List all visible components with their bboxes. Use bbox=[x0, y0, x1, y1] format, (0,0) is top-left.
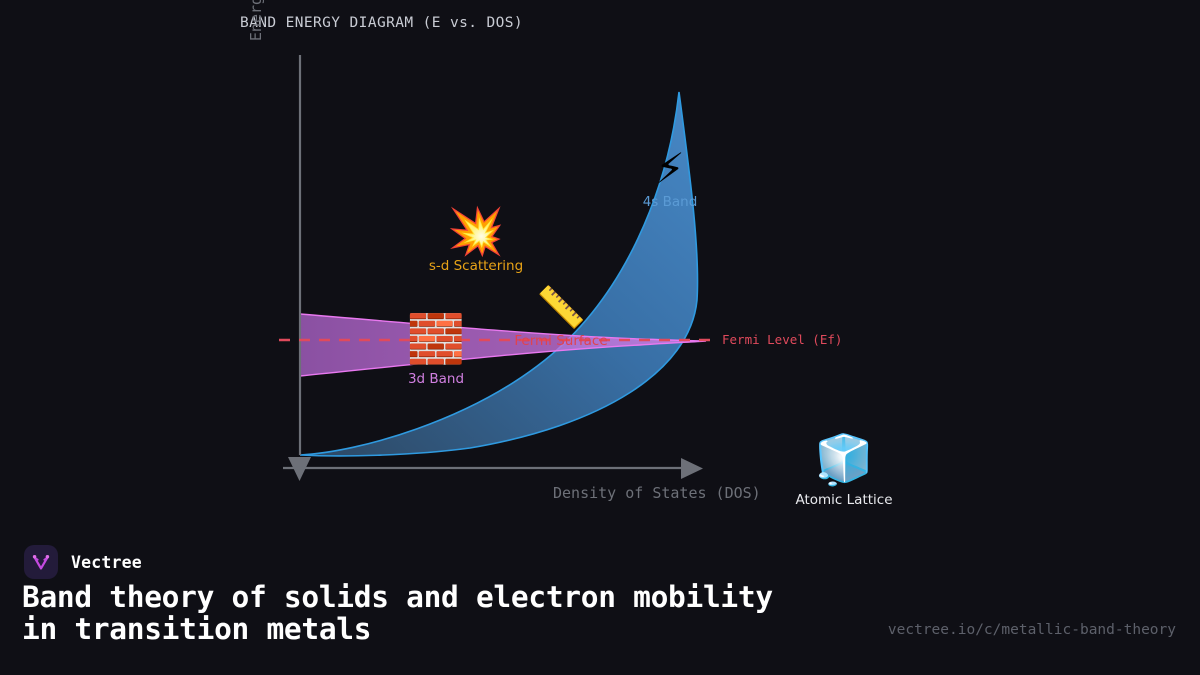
brick-wall-icon: 🧱 bbox=[372, 316, 500, 363]
node-3d-band-label: 3d Band bbox=[372, 371, 500, 387]
node-s-d-scattering-label: s-d Scattering bbox=[406, 258, 546, 274]
node-atomic-lattice-label: Atomic Lattice bbox=[779, 492, 909, 508]
node-4s-band-label: 4s Band bbox=[600, 194, 740, 210]
footer-bar: Vectree Band theory of solids and electr… bbox=[0, 540, 1200, 675]
node-atomic-lattice[interactable]: 🧊 Atomic Lattice bbox=[779, 436, 909, 508]
ruler-icon: 📏 bbox=[497, 288, 625, 328]
node-fermi-surface[interactable]: 📏 Fermi Surface bbox=[497, 288, 625, 349]
brand-block: Vectree bbox=[24, 545, 142, 579]
diagram-title: BAND ENERGY DIAGRAM (E vs. DOS) bbox=[240, 15, 523, 31]
node-fermi-surface-label: Fermi Surface bbox=[497, 333, 625, 349]
source-url: vectree.io/c/metallic-band-theory bbox=[888, 622, 1176, 638]
vectree-glyph bbox=[30, 551, 52, 573]
band-energy-diagram: BAND ENERGY DIAGRAM (E vs. DOS) Energy D… bbox=[0, 0, 1200, 540]
y-axis-label: Energy bbox=[247, 0, 265, 46]
fermi-level-label: Fermi Level (Ef) bbox=[722, 332, 842, 347]
screenshot-root: BAND ENERGY DIAGRAM (E vs. DOS) Energy D… bbox=[0, 0, 1200, 675]
collision-star-icon: 💥 bbox=[406, 208, 546, 254]
ice-cube-icon: 🧊 bbox=[779, 436, 909, 484]
diagram-canvas bbox=[0, 0, 1200, 540]
headline-text: Band theory of solids and electron mobil… bbox=[22, 581, 822, 646]
x-axis-arrow bbox=[681, 458, 703, 479]
node-s-d-scattering[interactable]: 💥 s-d Scattering bbox=[406, 208, 546, 274]
x-axis-label: Density of States (DOS) bbox=[553, 484, 761, 502]
brand-name: Vectree bbox=[71, 553, 142, 572]
node-4s-band[interactable]: ⚡ 4s Band bbox=[600, 148, 740, 210]
node-3d-band[interactable]: 🧱 3d Band bbox=[372, 316, 500, 387]
lightning-bolt-icon: ⚡ bbox=[600, 148, 740, 190]
vectree-tree-logo-icon bbox=[24, 545, 58, 579]
